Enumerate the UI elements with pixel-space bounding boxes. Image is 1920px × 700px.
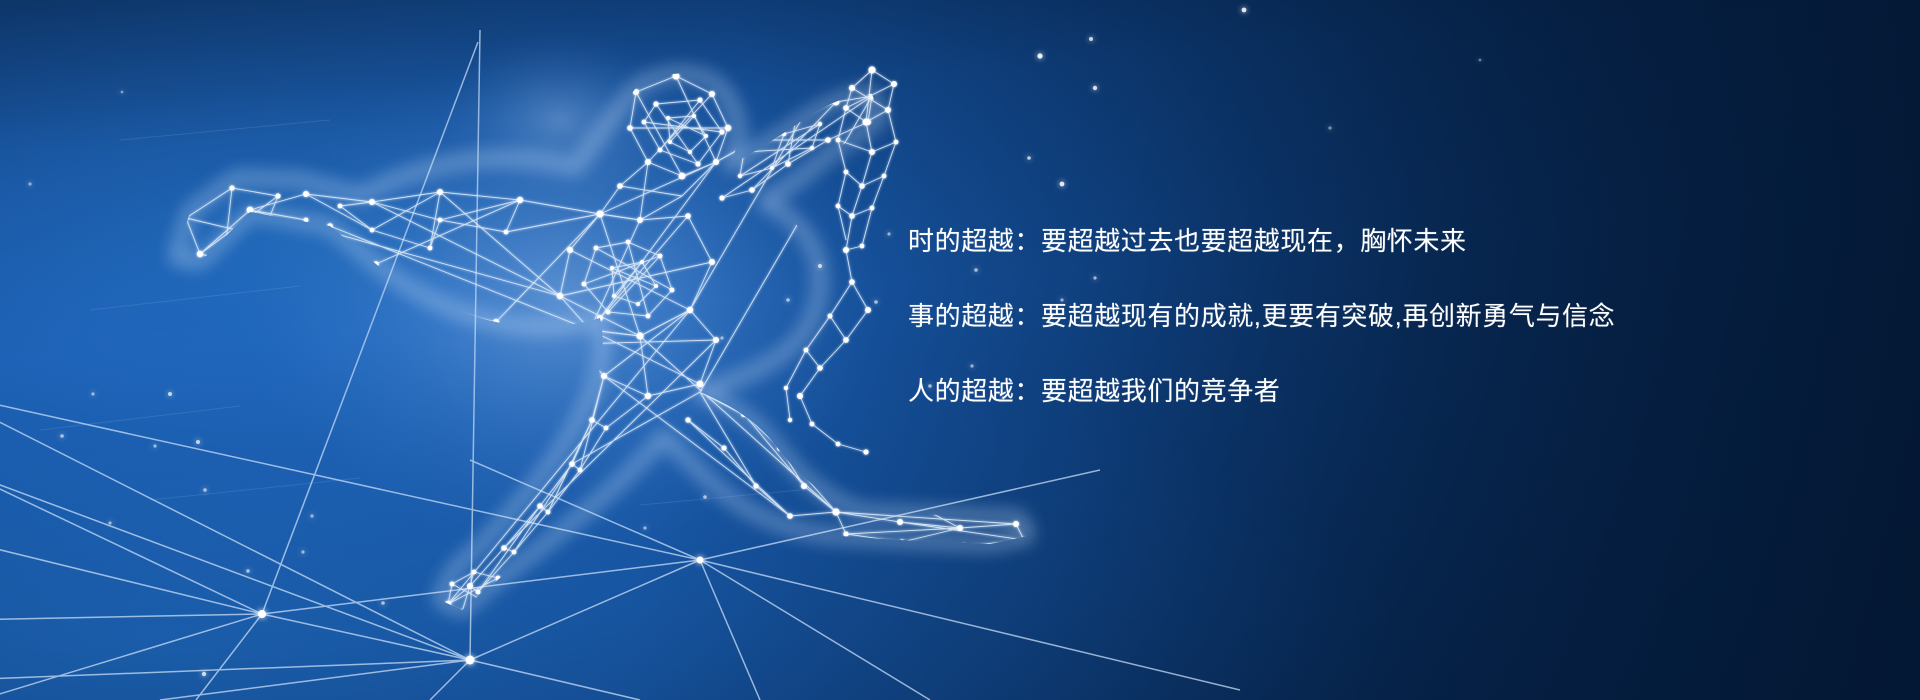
banner-text-block: 时的超越：要超越过去也要超越现在，胸怀未来 事的超越：要超越现有的成就,更要有突… — [908, 228, 1568, 404]
hero-banner: 时的超越：要超越过去也要超越现在，胸怀未来 事的超越：要超越现有的成就,更要有突… — [0, 0, 1920, 700]
banner-line-time: 时的超越：要超越过去也要超越现在，胸怀未来 — [908, 228, 1568, 254]
banner-line-matter: 事的超越：要超越现有的成就,更要有突破,再创新勇气与信念 — [908, 303, 1568, 329]
banner-line-people: 人的超越：要超越我们的竞争者 — [908, 378, 1568, 404]
